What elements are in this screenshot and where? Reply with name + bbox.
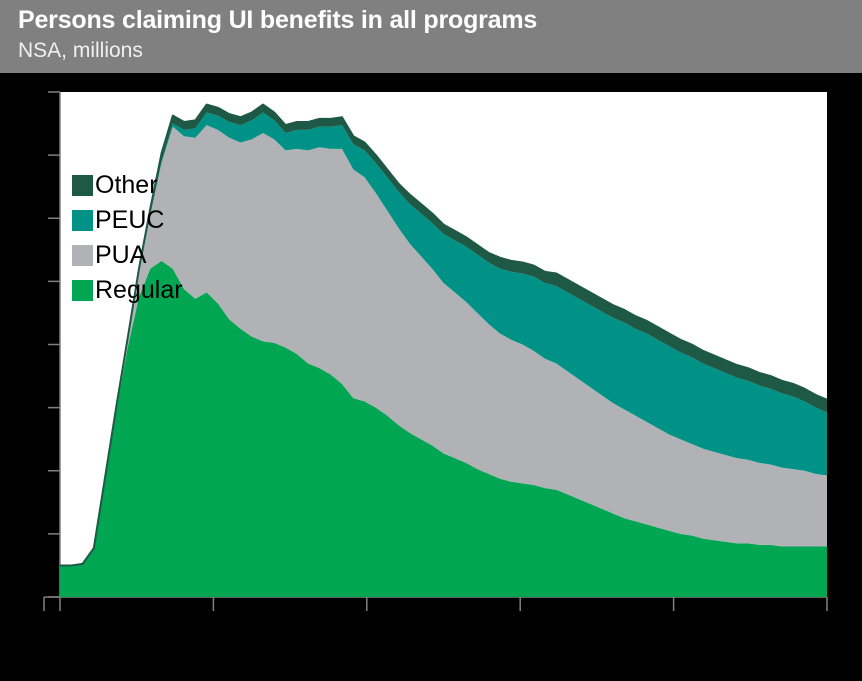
legend-label-other: Other: [95, 173, 158, 198]
legend-swatch-peuc: [72, 210, 93, 231]
legend-label-pua: PUA: [95, 243, 146, 268]
y-axis-ticks: [48, 92, 60, 597]
legend-swatch-regular: [72, 280, 93, 301]
legend-item-regular[interactable]: Regular: [72, 273, 183, 308]
legend-item-other[interactable]: Other: [72, 168, 183, 203]
legend-label-regular: Regular: [95, 278, 183, 303]
x-axis-ticks: [44, 597, 827, 611]
legend-item-pua[interactable]: PUA: [72, 238, 183, 273]
legend-label-peuc: PEUC: [95, 208, 164, 233]
chart-header-band: Persons claiming UI benefits in all prog…: [0, 0, 862, 73]
legend-item-peuc[interactable]: PEUC: [72, 203, 183, 238]
legend-swatch-other: [72, 175, 93, 196]
page-title: Persons claiming UI benefits in all prog…: [18, 4, 862, 37]
legend-swatch-pua: [72, 245, 93, 266]
chart-legend: Other PEUC PUA Regular: [72, 168, 183, 308]
stacked-area-chart: [0, 73, 862, 681]
chart-canvas: Other PEUC PUA Regular: [0, 73, 862, 681]
chart-subtitle: NSA, millions: [18, 37, 862, 65]
